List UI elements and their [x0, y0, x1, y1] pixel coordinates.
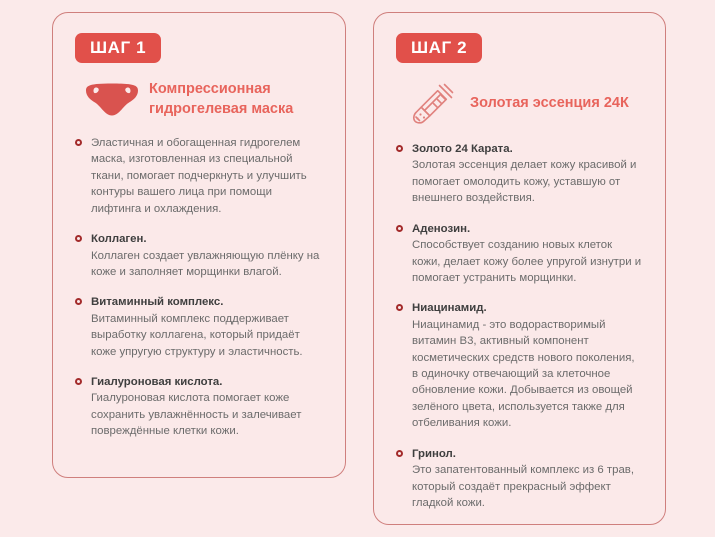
step-2-title-row: Золотая эссенция 24К [396, 79, 643, 127]
list-item-title: Золото 24 Карата. [412, 141, 643, 157]
product-steps-infographic: ШАГ 1 Компрессионная гидрогелевая маска [0, 0, 715, 537]
bullet-icon [75, 139, 82, 146]
list-item-body: Золотая эссенция делает кожу красивой и … [412, 157, 643, 206]
bullet-icon [396, 304, 403, 311]
bullet-icon [75, 298, 82, 305]
step-1-card: ШАГ 1 Компрессионная гидрогелевая маска [52, 12, 346, 478]
step-2-badge: ШАГ 2 [396, 33, 482, 63]
list-item: Гринол. Это запатентованный комплекс из … [396, 446, 643, 512]
step-2-title: Золотая эссенция 24К [470, 92, 629, 114]
list-item-body: Эластичная и обогащенная гидрогелем маск… [91, 135, 323, 217]
list-item-body: Коллаген создает увлажняющую плёнку на к… [91, 248, 323, 281]
list-item-title: Аденозин. [412, 221, 643, 237]
bullet-icon [75, 235, 82, 242]
list-item-title: Ниацинамид. [412, 300, 643, 316]
bullet-icon [396, 450, 403, 457]
step-1-title-line-1: Компрессионная [149, 81, 271, 97]
bullet-icon [396, 225, 403, 232]
step-1-ingredient-list: Эластичная и обогащенная гидрогелем маск… [75, 135, 323, 440]
bullet-icon [75, 378, 82, 385]
step-1-badge: ШАГ 1 [75, 33, 161, 63]
list-item-body: Это запатентованный комплекс из 6 трав, … [412, 462, 643, 511]
list-item-title: Гринол. [412, 446, 643, 462]
list-item-title: Гиалуроновая кислота. [91, 374, 323, 390]
list-item: Золото 24 Карата. Золотая эссенция делае… [396, 141, 643, 207]
step-2-card: ШАГ 2 [373, 12, 666, 525]
step-2-card-content: ШАГ 2 [374, 13, 665, 521]
list-item: Витаминный комплекс. Витаминный комплекс… [75, 294, 323, 360]
list-item-body: Ниацинамид - это водорастворимый витамин… [412, 317, 643, 432]
list-item: Аденозин. Способствует созданию новых кл… [396, 221, 643, 287]
step-2-ingredient-list: Золото 24 Карата. Золотая эссенция делае… [396, 141, 643, 511]
step-1-title-line-2: гидрогелевая маска [149, 101, 293, 117]
syringe-icon [396, 79, 470, 127]
step-1-title-row: Компрессионная гидрогелевая маска [75, 79, 323, 121]
bullet-icon [396, 145, 403, 152]
list-item: Эластичная и обогащенная гидрогелем маск… [75, 135, 323, 217]
list-item: Ниацинамид. Ниацинамид - это водораствор… [396, 300, 643, 431]
list-item-title: Витаминный комплекс. [91, 294, 323, 310]
step-1-title: Компрессионная гидрогелевая маска [149, 80, 293, 119]
list-item: Коллаген. Коллаген создает увлажняющую п… [75, 231, 323, 280]
list-item: Гиалуроновая кислота. Гиалуроновая кисло… [75, 374, 323, 440]
list-item-body: Витаминный комплекс поддерживает выработ… [91, 311, 323, 360]
list-item-title: Коллаген. [91, 231, 323, 247]
step-1-card-content: ШАГ 1 Компрессионная гидрогелевая маска [53, 13, 345, 450]
compression-mask-icon [75, 81, 149, 119]
list-item-body: Способствует созданию новых клеток кожи,… [412, 237, 643, 286]
list-item-body: Гиалуроновая кислота помогает коже сохра… [91, 390, 323, 439]
